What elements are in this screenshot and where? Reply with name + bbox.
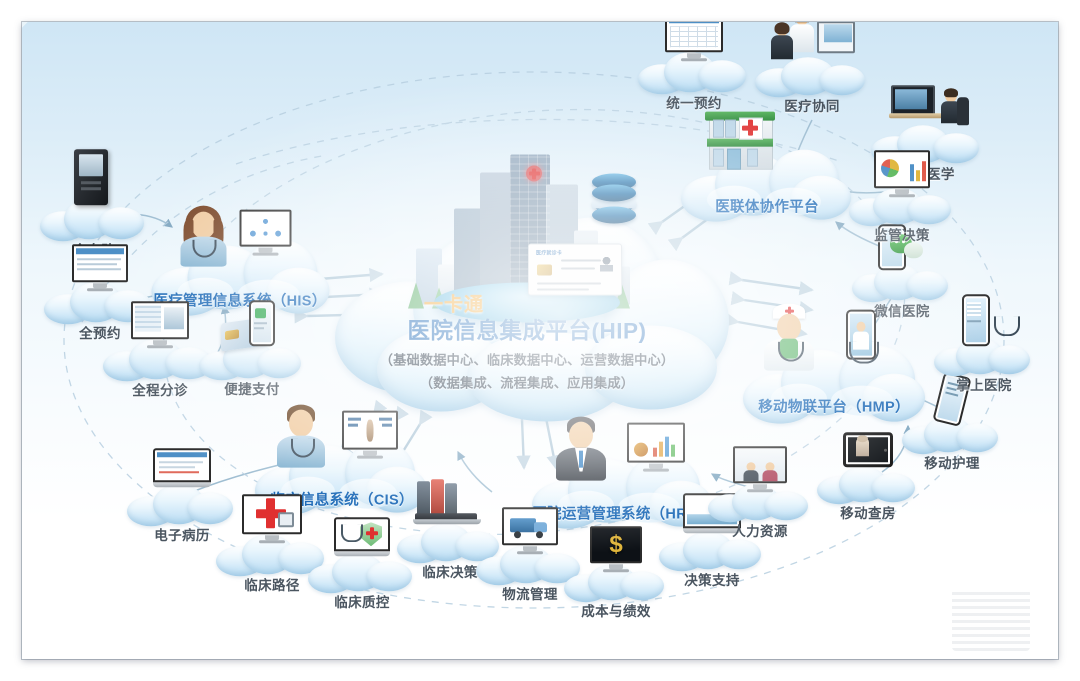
node-quality-label: 临床质控 (308, 595, 416, 611)
desktop-monitor-icon (72, 244, 128, 291)
tablet-icon (843, 432, 893, 467)
node-mobile-nursing[interactable]: 移动护理 (902, 412, 1002, 472)
node-dss-label: 决策支持 (659, 573, 765, 589)
node-unified-appt-label: 统一预约 (638, 96, 750, 112)
monitor-people-icon (733, 446, 787, 492)
manager-suit-icon (554, 415, 608, 479)
platform-his[interactable]: 医疗管理信息系统（HIS） (148, 234, 333, 311)
anatomy-monitor-icon (342, 411, 398, 459)
platform-hmp[interactable]: 移动物联平台（HMP） (739, 340, 929, 417)
node-payment-label: 便捷支付 (199, 382, 305, 398)
hip-core-cloud[interactable]: 医疗就诊卡 一卡通 (317, 210, 737, 425)
consultation-people-icon (769, 22, 857, 61)
node-mobile-nursing-label: 移动护理 (902, 456, 1002, 472)
node-ward-round-label: 移动查房 (817, 506, 919, 522)
diagram-canvas: 医疗就诊卡 一卡通 (0, 0, 1080, 681)
laptop-icon (153, 448, 211, 487)
monitor-dollar-icon: $ (590, 526, 642, 572)
desktop-monitor-icon (240, 210, 292, 256)
hip-subtitle-1: （基础数据中心、临床数据中心、运营数据中心） (317, 350, 737, 369)
node-supervision-label: 监管决策 (849, 228, 955, 244)
hip-title: 医院信息集成平台(HIP) (317, 314, 737, 346)
kiosk-terminal-icon (74, 149, 108, 205)
monitor-redcross-icon (242, 494, 302, 543)
node-wechat-hosp[interactable]: 微信医院 (852, 260, 952, 320)
node-cost-label: 成本与绩效 (564, 604, 668, 620)
node-wechat-hosp-label: 微信医院 (852, 304, 952, 320)
node-pocket-hosp-label: 掌上医院 (934, 378, 1034, 394)
doctor-male-icon (275, 403, 327, 465)
node-collab-label: 医疗协同 (755, 99, 869, 115)
one-card-badge: 一卡通 (424, 290, 484, 317)
monitor-schedule-icon (665, 22, 723, 61)
clinic-building-icon (705, 106, 779, 172)
node-supervision[interactable]: 监管决策 (849, 184, 955, 244)
poster-panel: 医疗就诊卡 一卡通 (22, 22, 1058, 659)
desktop-monitor-icon (131, 301, 189, 348)
smartphone-stethoscope-icon (962, 294, 990, 346)
monitor-analytics-icon (874, 150, 930, 197)
nurse-icon (761, 304, 817, 370)
node-hr[interactable]: 人力资源 (708, 480, 812, 540)
monitor-analytics-icon (627, 423, 685, 472)
mobile-payment-icon (217, 300, 287, 346)
hospital-tower-icon: 医疗就诊卡 一卡通 (402, 152, 652, 327)
node-pocket-hosp[interactable]: 掌上医院 (934, 334, 1034, 394)
node-collab[interactable]: 医疗协同 (755, 53, 869, 115)
platform-alliance[interactable]: 医联体协作平台 (679, 144, 855, 217)
diagram-stage: 医疗就诊卡 一卡通 (22, 22, 1058, 659)
laptop-shield-icon (334, 517, 390, 556)
platform-hmp-label: 移动物联平台（HMP） (739, 400, 929, 417)
binders-laptop-icon (413, 479, 485, 529)
database-stack-icon (592, 174, 636, 228)
node-payment[interactable]: 便捷支付 (199, 336, 305, 398)
platform-alliance-label: 医联体协作平台 (679, 200, 855, 217)
doctor-female-icon (178, 204, 230, 264)
hip-subtitle-2: （数据集成、流程集成、应用集成） (317, 373, 737, 392)
watermark (952, 589, 1030, 651)
medical-smartcard-icon: 医疗就诊卡 (528, 244, 622, 296)
node-unified-appt[interactable]: 统一预约 (638, 48, 750, 112)
monitor-truck-icon (502, 507, 558, 554)
node-hr-label: 人力资源 (708, 524, 812, 540)
hip-text-block: 医院信息集成平台(HIP) （基础数据中心、临床数据中心、运营数据中心） （数据… (317, 314, 737, 392)
node-cost[interactable]: $ 成本与绩效 (564, 560, 668, 620)
video-conference-icon (887, 83, 969, 129)
